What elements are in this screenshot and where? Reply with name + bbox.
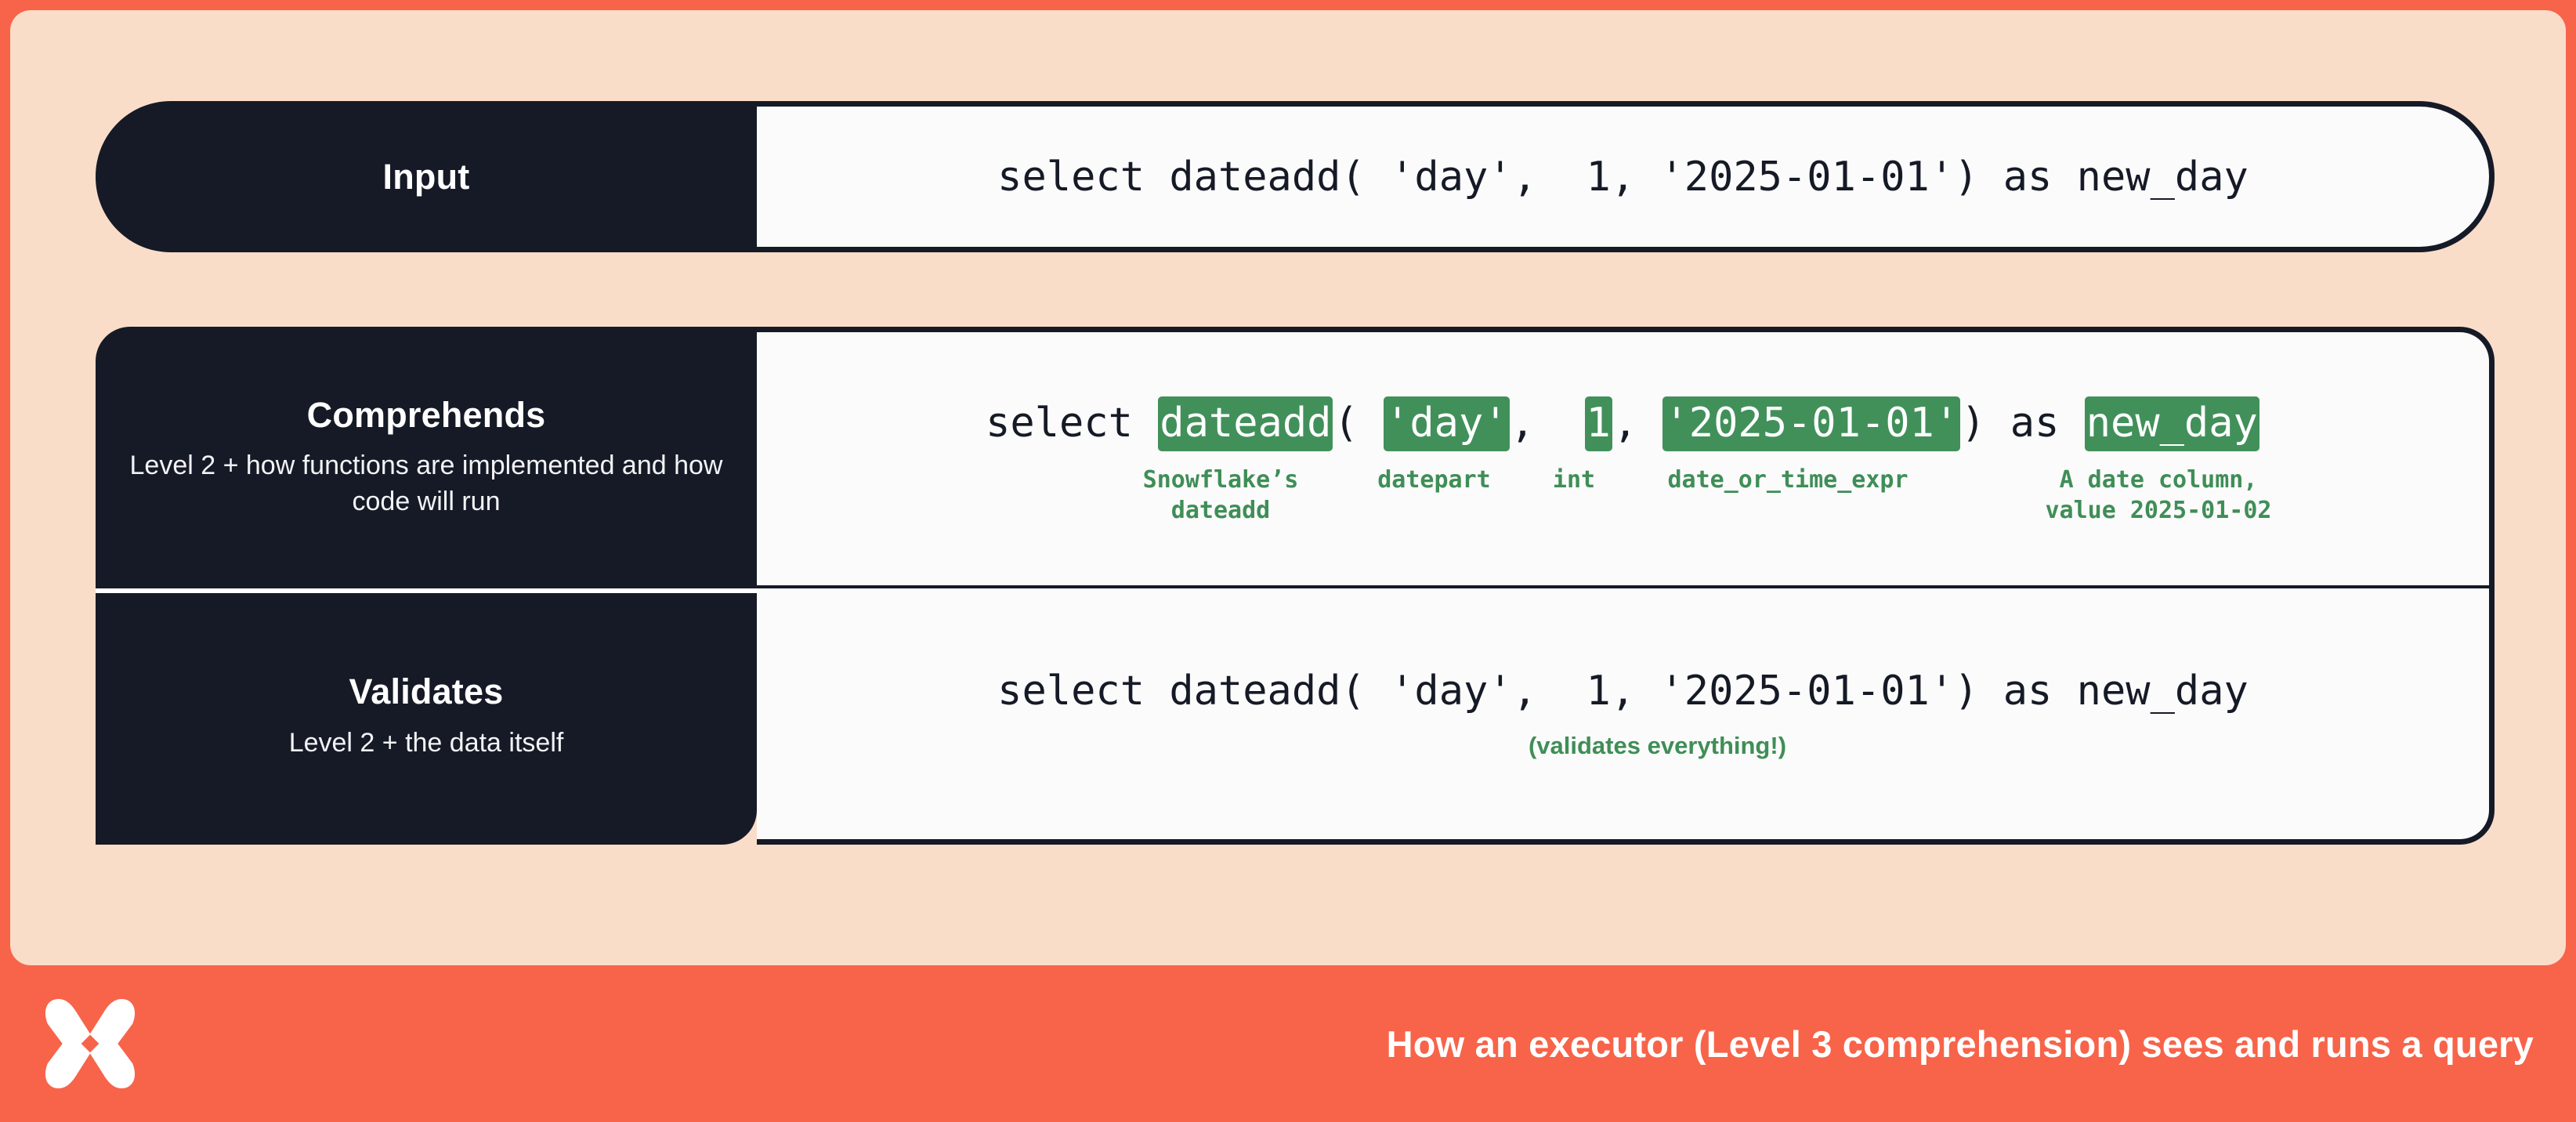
note-datepart: datepart	[1346, 465, 1522, 495]
validates-row: Validates Level 2 + the data itself sele…	[96, 588, 2495, 845]
levels-card: Comprehends Level 2 + how functions are …	[96, 327, 2495, 845]
input-code-cell: select dateadd( 'day', 1, '2025-01-01') …	[757, 101, 2495, 252]
comprehends-code-cell: select dateadd( 'day', 1, '2025-01-01') …	[757, 327, 2495, 588]
validates-sublabel: Level 2 + the data itself	[289, 726, 564, 762]
content-canvas: Input select dateadd( 'day', 1, '2025-01…	[10, 10, 2566, 965]
input-row: Input select dateadd( 'day', 1, '2025-01…	[96, 101, 2495, 252]
code-token: (	[1333, 400, 1383, 447]
note-new-day: A date column, value 2025-01-02	[1994, 465, 2323, 526]
comprehends-sublabel: Level 2 + how functions are implemented …	[116, 448, 736, 520]
comprehends-code-text: select dateadd( 'day', 1, '2025-01-01') …	[986, 396, 2260, 451]
comprehends-notes: Snowflake’s dateadd datepart int date_or…	[757, 465, 2489, 526]
annotated-code: select dateadd( 'day', 1, '2025-01-01') …	[757, 392, 2489, 526]
code-token: ,	[1613, 400, 1662, 447]
validates-note: (validates everything!)	[1529, 732, 1786, 760]
comprehends-label: Comprehends	[307, 395, 546, 436]
comprehends-label-cell: Comprehends Level 2 + how functions are …	[96, 327, 757, 588]
footer-caption: How an executor (Level 3 comprehension) …	[1387, 1022, 2534, 1066]
code-token: ,	[1511, 400, 1584, 447]
validates-label-cell: Validates Level 2 + the data itself	[96, 588, 757, 845]
note-date-or-time-expr: date_or_time_expr	[1627, 465, 1948, 495]
code-token-highlighted: dateadd	[1158, 396, 1333, 451]
validates-label: Validates	[349, 671, 504, 712]
validates-code-text: select dateadd( 'day', 1, '2025-01-01') …	[997, 668, 2249, 715]
code-token-highlighted: 'day'	[1384, 396, 1510, 451]
poster-root: Input select dateadd( 'day', 1, '2025-01…	[0, 0, 2576, 1122]
butterfly-x-logo-icon	[41, 994, 139, 1093]
code-token-highlighted: new_day	[2085, 396, 2259, 451]
input-label-cell: Input	[96, 101, 757, 252]
input-label: Input	[383, 157, 470, 197]
code-token: select	[986, 400, 1157, 447]
code-token-highlighted: 1	[1585, 396, 1612, 451]
note-int: int	[1527, 465, 1621, 495]
row-divider	[96, 588, 757, 593]
code-token-highlighted: '2025-01-01'	[1662, 396, 1960, 451]
footer-bar: How an executor (Level 3 comprehension) …	[0, 965, 2576, 1122]
validates-code-cell: select dateadd( 'day', 1, '2025-01-01') …	[757, 588, 2495, 845]
input-code-text: select dateadd( 'day', 1, '2025-01-01') …	[997, 154, 2249, 201]
note-dateadd: Snowflake’s dateadd	[1103, 465, 1338, 526]
code-token: ) as	[1961, 400, 2084, 447]
comprehends-row: Comprehends Level 2 + how functions are …	[96, 327, 2495, 588]
